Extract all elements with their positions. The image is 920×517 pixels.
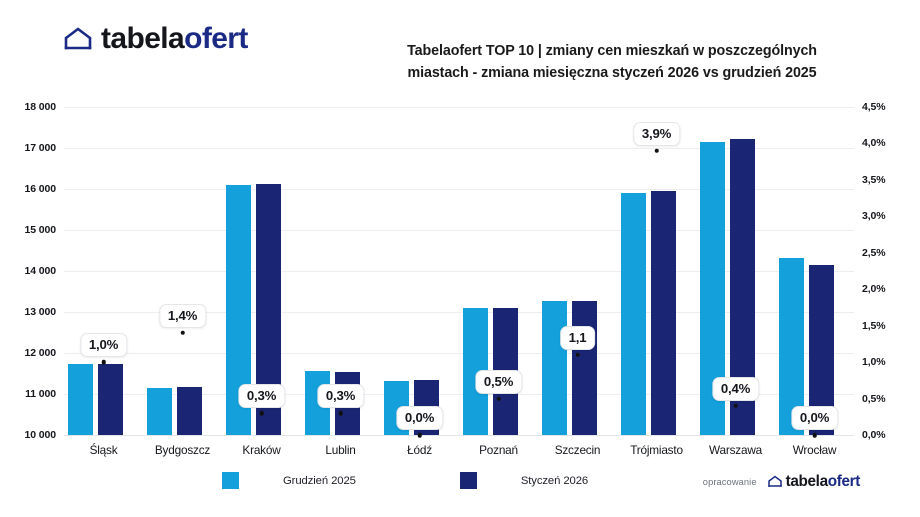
- y-axis-left-tick: 14 000: [24, 265, 56, 277]
- change-marker-label: 3,9%: [633, 122, 680, 146]
- y-axis-left-tick: 15 000: [24, 224, 56, 236]
- bar-grudzien[interactable]: [147, 388, 172, 435]
- bar-group[interactable]: 3,9%Trójmiasto: [617, 107, 696, 435]
- house-outline-icon: [64, 26, 92, 52]
- y-axis-right: 0,0%0,5%1,0%1,5%2,0%2,5%3,0%3,5%4,0%4,5%: [862, 107, 918, 435]
- credit-wordmark: tabelaofert: [786, 474, 860, 489]
- legend-swatch-light: [222, 472, 239, 489]
- x-axis-tick-3: Kraków: [222, 443, 301, 457]
- change-marker-dot: [101, 360, 106, 365]
- y-axis-left-tick: 13 000: [24, 306, 56, 318]
- x-axis-tick-4: Lublin: [301, 443, 380, 457]
- y-axis-right-tick: 2,0%: [862, 283, 886, 295]
- chart-legend: Grudzień 2025Styczeń 2026: [222, 472, 588, 489]
- y-axis-right-tick: 3,0%: [862, 210, 886, 222]
- y-axis-right-tick: 4,0%: [862, 137, 886, 149]
- credit-name-blue: ofert: [828, 473, 860, 490]
- y-axis-right-tick: 2,5%: [862, 247, 886, 259]
- brand-name-blue: ofert: [184, 22, 248, 55]
- change-marker-dot: [180, 331, 185, 336]
- bar-group[interactable]: 1,0%Śląsk: [64, 107, 143, 435]
- change-marker-label: 0,3%: [238, 384, 285, 408]
- change-marker-dot: [654, 148, 659, 153]
- credit-name-dark: tabela: [786, 473, 828, 490]
- change-marker-dot: [496, 396, 501, 401]
- change-marker-label: 0,3%: [317, 384, 364, 408]
- bar-grudzien[interactable]: [68, 364, 93, 435]
- brand-name-dark: tabela: [101, 22, 184, 55]
- y-axis-left-tick: 12 000: [24, 347, 56, 359]
- change-marker-dot: [417, 433, 422, 438]
- y-axis-right-tick: 4,5%: [862, 101, 886, 113]
- y-axis-left: 10 00011 00012 00013 00014 00015 00016 0…: [0, 107, 56, 435]
- credit-brand-logo: tabelaofert: [768, 474, 860, 489]
- header: tabelaofert Tabelaofert TOP 10 | zmiany …: [0, 0, 920, 96]
- brand-logo: tabelaofert: [64, 24, 248, 54]
- chart-plot-area: 1,0%Śląsk1,4%Bydgoszcz0,3%Kraków0,3%Lubl…: [64, 107, 854, 435]
- bar-styczen[interactable]: [177, 387, 202, 435]
- title-line-2: miastach - zmiana miesięczna styczeń 202…: [372, 62, 852, 84]
- x-axis-tick-8: Trójmiasto: [617, 443, 696, 457]
- bar-group[interactable]: 0,0%Wrocław: [775, 107, 854, 435]
- bar-group[interactable]: 0,3%Kraków: [222, 107, 301, 435]
- bar-grudzien[interactable]: [542, 301, 567, 435]
- bar-styczen[interactable]: [651, 191, 676, 435]
- legend-label: Grudzień 2025: [283, 475, 356, 487]
- legend-item[interactable]: Styczeń 2026: [460, 472, 588, 489]
- y-axis-left-tick: 11 000: [25, 388, 56, 400]
- change-marker-label: 0,0%: [791, 406, 838, 430]
- change-marker-label: 0,5%: [475, 370, 522, 394]
- bar-group[interactable]: 0,5%Poznań: [459, 107, 538, 435]
- y-axis-right-tick: 1,0%: [862, 356, 886, 368]
- y-axis-right-tick: 1,5%: [862, 320, 886, 332]
- change-marker-dot: [575, 353, 580, 358]
- house-outline-icon: [768, 475, 782, 488]
- y-axis-right-tick: 0,5%: [862, 393, 886, 405]
- change-marker-label: 0,4%: [712, 377, 759, 401]
- change-marker-label: 1,4%: [159, 304, 206, 328]
- y-axis-left-tick: 18 000: [24, 101, 56, 113]
- x-axis-tick-6: Poznań: [459, 443, 538, 457]
- legend-swatch-dark: [460, 472, 477, 489]
- brand-wordmark: tabelaofert: [101, 24, 248, 54]
- change-marker-label: 1,0%: [80, 333, 127, 357]
- bar-group[interactable]: 0,4%Warszawa: [696, 107, 775, 435]
- x-axis-tick-2: Bydgoszcz: [143, 443, 222, 457]
- bar-group[interactable]: 0,0%Łódź: [380, 107, 459, 435]
- y-axis-right-tick: 0,0%: [862, 429, 886, 441]
- legend-label: Styczeń 2026: [521, 475, 588, 487]
- page-title: Tabelaofert TOP 10 | zmiany cen mieszkań…: [372, 40, 852, 84]
- credit-block: opracowanie tabelaofert: [703, 474, 860, 489]
- change-marker-dot: [338, 411, 343, 416]
- bar-group[interactable]: 1,4%Bydgoszcz: [143, 107, 222, 435]
- legend-item[interactable]: Grudzień 2025: [222, 472, 356, 489]
- change-marker-dot: [733, 404, 738, 409]
- x-axis-tick-7: Szczecin: [538, 443, 617, 457]
- change-marker-label: 0,0%: [396, 406, 443, 430]
- x-axis-tick-10: Wrocław: [775, 443, 854, 457]
- x-axis-tick-1: Śląsk: [64, 443, 143, 457]
- change-marker-dot: [812, 433, 817, 438]
- change-marker-label: 1,1: [560, 326, 596, 350]
- y-axis-left-tick: 17 000: [24, 142, 56, 154]
- bar-styczen[interactable]: [98, 364, 123, 435]
- bar-grudzien[interactable]: [621, 193, 646, 435]
- y-axis-left-tick: 16 000: [24, 183, 56, 195]
- bar-group[interactable]: 1,1Szczecin: [538, 107, 617, 435]
- bar-group[interactable]: 0,3%Lublin: [301, 107, 380, 435]
- bar-styczen[interactable]: [572, 301, 597, 435]
- y-axis-right-tick: 3,5%: [862, 174, 886, 186]
- x-axis-tick-9: Warszawa: [696, 443, 775, 457]
- gridline: [64, 435, 854, 436]
- title-line-1: Tabelaofert TOP 10 | zmiany cen mieszkań…: [372, 40, 852, 62]
- x-axis-tick-5: Łódź: [380, 443, 459, 457]
- y-axis-left-tick: 10 000: [24, 429, 56, 441]
- credit-label: opracowanie: [703, 477, 757, 487]
- change-marker-dot: [259, 411, 264, 416]
